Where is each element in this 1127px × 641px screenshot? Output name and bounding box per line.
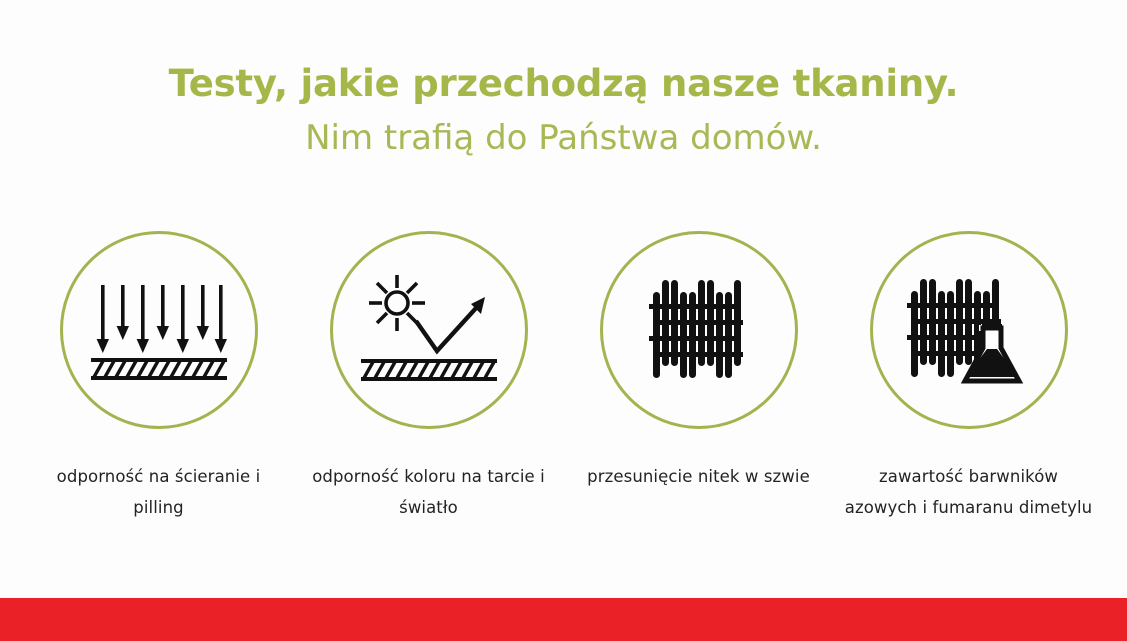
test-cards-row: odporność na ścieranie i pilling xyxy=(0,231,1127,523)
test-card-seam-slippage: przesunięcie nitek w szwie xyxy=(564,231,834,493)
abrasion-pilling-icon xyxy=(89,275,229,385)
fabric-strip xyxy=(361,361,497,379)
page-title: Testy, jakie przechodzą nasze tkaniny. xyxy=(0,62,1127,106)
icon-circle-abrasion xyxy=(60,231,258,429)
test-card-azo-dyes: zawartość barwników azowych i fumaranu d… xyxy=(834,231,1104,523)
seam-slippage-icon xyxy=(647,276,751,384)
icon-circle-colour-fastness xyxy=(330,231,528,429)
test-card-caption: zawartość barwników azowych i fumaranu d… xyxy=(844,462,1094,523)
colour-fastness-light-rubbing-icon xyxy=(359,271,499,389)
fabric-strip xyxy=(91,360,227,378)
azo-dyes-dimethyl-fumarate-icon xyxy=(905,269,1033,391)
bottom-red-bar xyxy=(0,598,1127,641)
icon-circle-azo-dyes xyxy=(870,231,1068,429)
test-card-caption: przesunięcie nitek w szwie xyxy=(574,462,824,493)
test-card-caption: odporność koloru na tarcie i światło xyxy=(304,462,554,523)
icon-circle-seam-slippage xyxy=(600,231,798,429)
page-subtitle: Nim trafią do Państwa domów. xyxy=(0,118,1127,159)
heading-block: Testy, jakie przechodzą nasze tkaniny. N… xyxy=(0,62,1127,158)
test-card-colour-fastness: odporność koloru na tarcie i światło xyxy=(294,231,564,523)
reflected-ray xyxy=(416,307,477,351)
test-card-abrasion: odporność na ścieranie i pilling xyxy=(24,231,294,523)
infographic-stage: Testy, jakie przechodzą nasze tkaniny. N… xyxy=(0,0,1127,641)
test-card-caption: odporność na ścieranie i pilling xyxy=(34,462,284,523)
